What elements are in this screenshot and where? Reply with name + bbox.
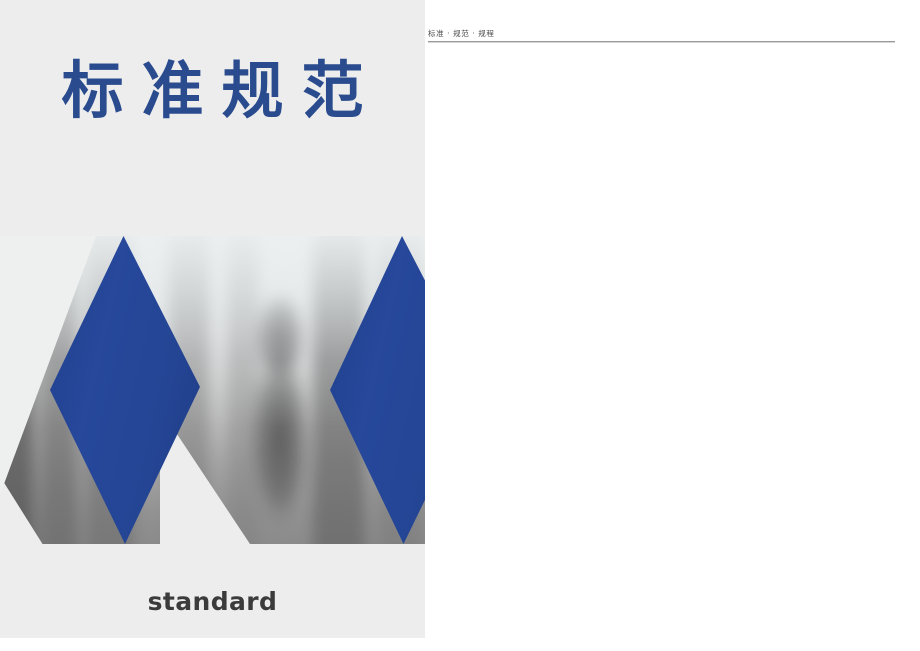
cover-panel: 标准规范 standard <box>0 0 425 638</box>
document-page: 标准 · 规范 · 规程 <box>425 0 920 651</box>
document-header-text: 标准 · 规范 · 规程 <box>428 28 898 39</box>
document-header: 标准 · 规范 · 规程 <box>428 28 898 43</box>
document-header-rule <box>428 41 895 43</box>
cover-artwork <box>0 236 425 544</box>
cover-title: 标准规范 <box>0 52 425 130</box>
page-canvas: 标准规范 standard 标准 · 规范 · 规程 <box>0 0 920 651</box>
cover-wordmark: standard <box>0 587 425 616</box>
document-body <box>428 50 898 630</box>
